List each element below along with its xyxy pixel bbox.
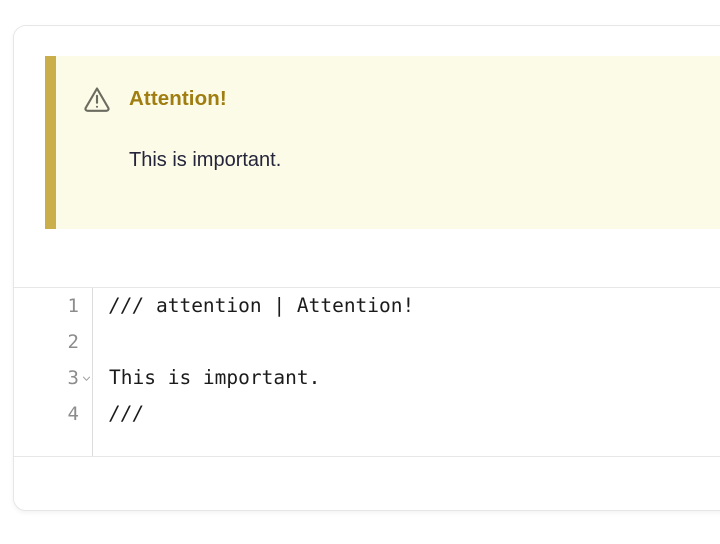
code-line-text[interactable]: This is important. [94, 368, 320, 388]
fold-toggle-slot [79, 396, 94, 432]
rendered-preview-pane: Attention! This is important. [14, 26, 720, 286]
line-number: 1 [68, 297, 79, 316]
line-number: 4 [68, 405, 79, 424]
code-line-text[interactable]: /// [94, 404, 144, 424]
callout-header: Attention! [82, 84, 227, 114]
fence-token: /// [109, 294, 144, 317]
code-line-row[interactable]: 3 This is important. [14, 360, 720, 396]
code-line-rest: attention | Attention! [144, 294, 414, 317]
fence-token: /// [109, 402, 144, 425]
chevron-down-icon[interactable] [82, 374, 91, 383]
callout-title: Attention! [129, 89, 227, 110]
code-line-rest: This is important. [109, 366, 320, 389]
code-editor-pane[interactable]: 1 /// attention | Attention! 2 3 [14, 288, 720, 456]
screen-root: Attention! This is important. 1 /// atte… [0, 0, 720, 544]
line-number-gutter: 3 [14, 360, 79, 396]
line-number: 3 [68, 369, 79, 388]
fold-toggle-slot[interactable] [79, 360, 94, 396]
code-line-row[interactable]: 1 /// attention | Attention! [14, 288, 720, 324]
warning-triangle-icon [82, 84, 112, 114]
code-line-text[interactable]: /// attention | Attention! [94, 296, 414, 316]
line-number-gutter: 4 [14, 396, 79, 432]
code-line-row[interactable]: 4 /// [14, 396, 720, 432]
line-number-gutter: 2 [14, 324, 79, 360]
line-number: 2 [68, 333, 79, 352]
markdown-callout-preview-card: Attention! This is important. 1 /// atte… [13, 25, 720, 511]
line-number-gutter: 1 [14, 288, 79, 324]
code-line-row[interactable]: 2 [14, 324, 720, 360]
callout-body-text: This is important. [129, 148, 281, 172]
fold-toggle-slot [79, 324, 94, 360]
card-footer-strip [14, 457, 720, 510]
attention-callout: Attention! This is important. [45, 56, 720, 229]
fold-toggle-slot [79, 288, 94, 324]
